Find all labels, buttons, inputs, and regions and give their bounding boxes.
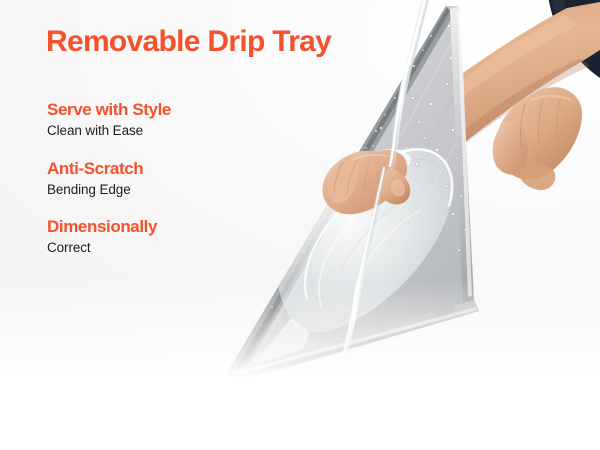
feature-item: Anti-Scratch Bending Edge bbox=[47, 159, 277, 199]
feature-subtitle: Bending Edge bbox=[47, 181, 277, 199]
feature-title: Dimensionally bbox=[47, 217, 277, 237]
page-title: Removable Drip Tray bbox=[46, 26, 331, 58]
product-feature-banner: Removable Drip Tray Serve with Style Cle… bbox=[0, 0, 600, 450]
feature-subtitle: Correct bbox=[47, 239, 277, 257]
feature-list: Serve with Style Clean with Ease Anti-Sc… bbox=[47, 100, 277, 257]
feature-item: Serve with Style Clean with Ease bbox=[47, 100, 277, 140]
feature-title: Anti-Scratch bbox=[47, 159, 277, 179]
feature-item: Dimensionally Correct bbox=[47, 217, 277, 257]
bottom-fade bbox=[0, 280, 600, 450]
feature-subtitle: Clean with Ease bbox=[47, 122, 277, 140]
feature-title: Serve with Style bbox=[47, 100, 277, 120]
